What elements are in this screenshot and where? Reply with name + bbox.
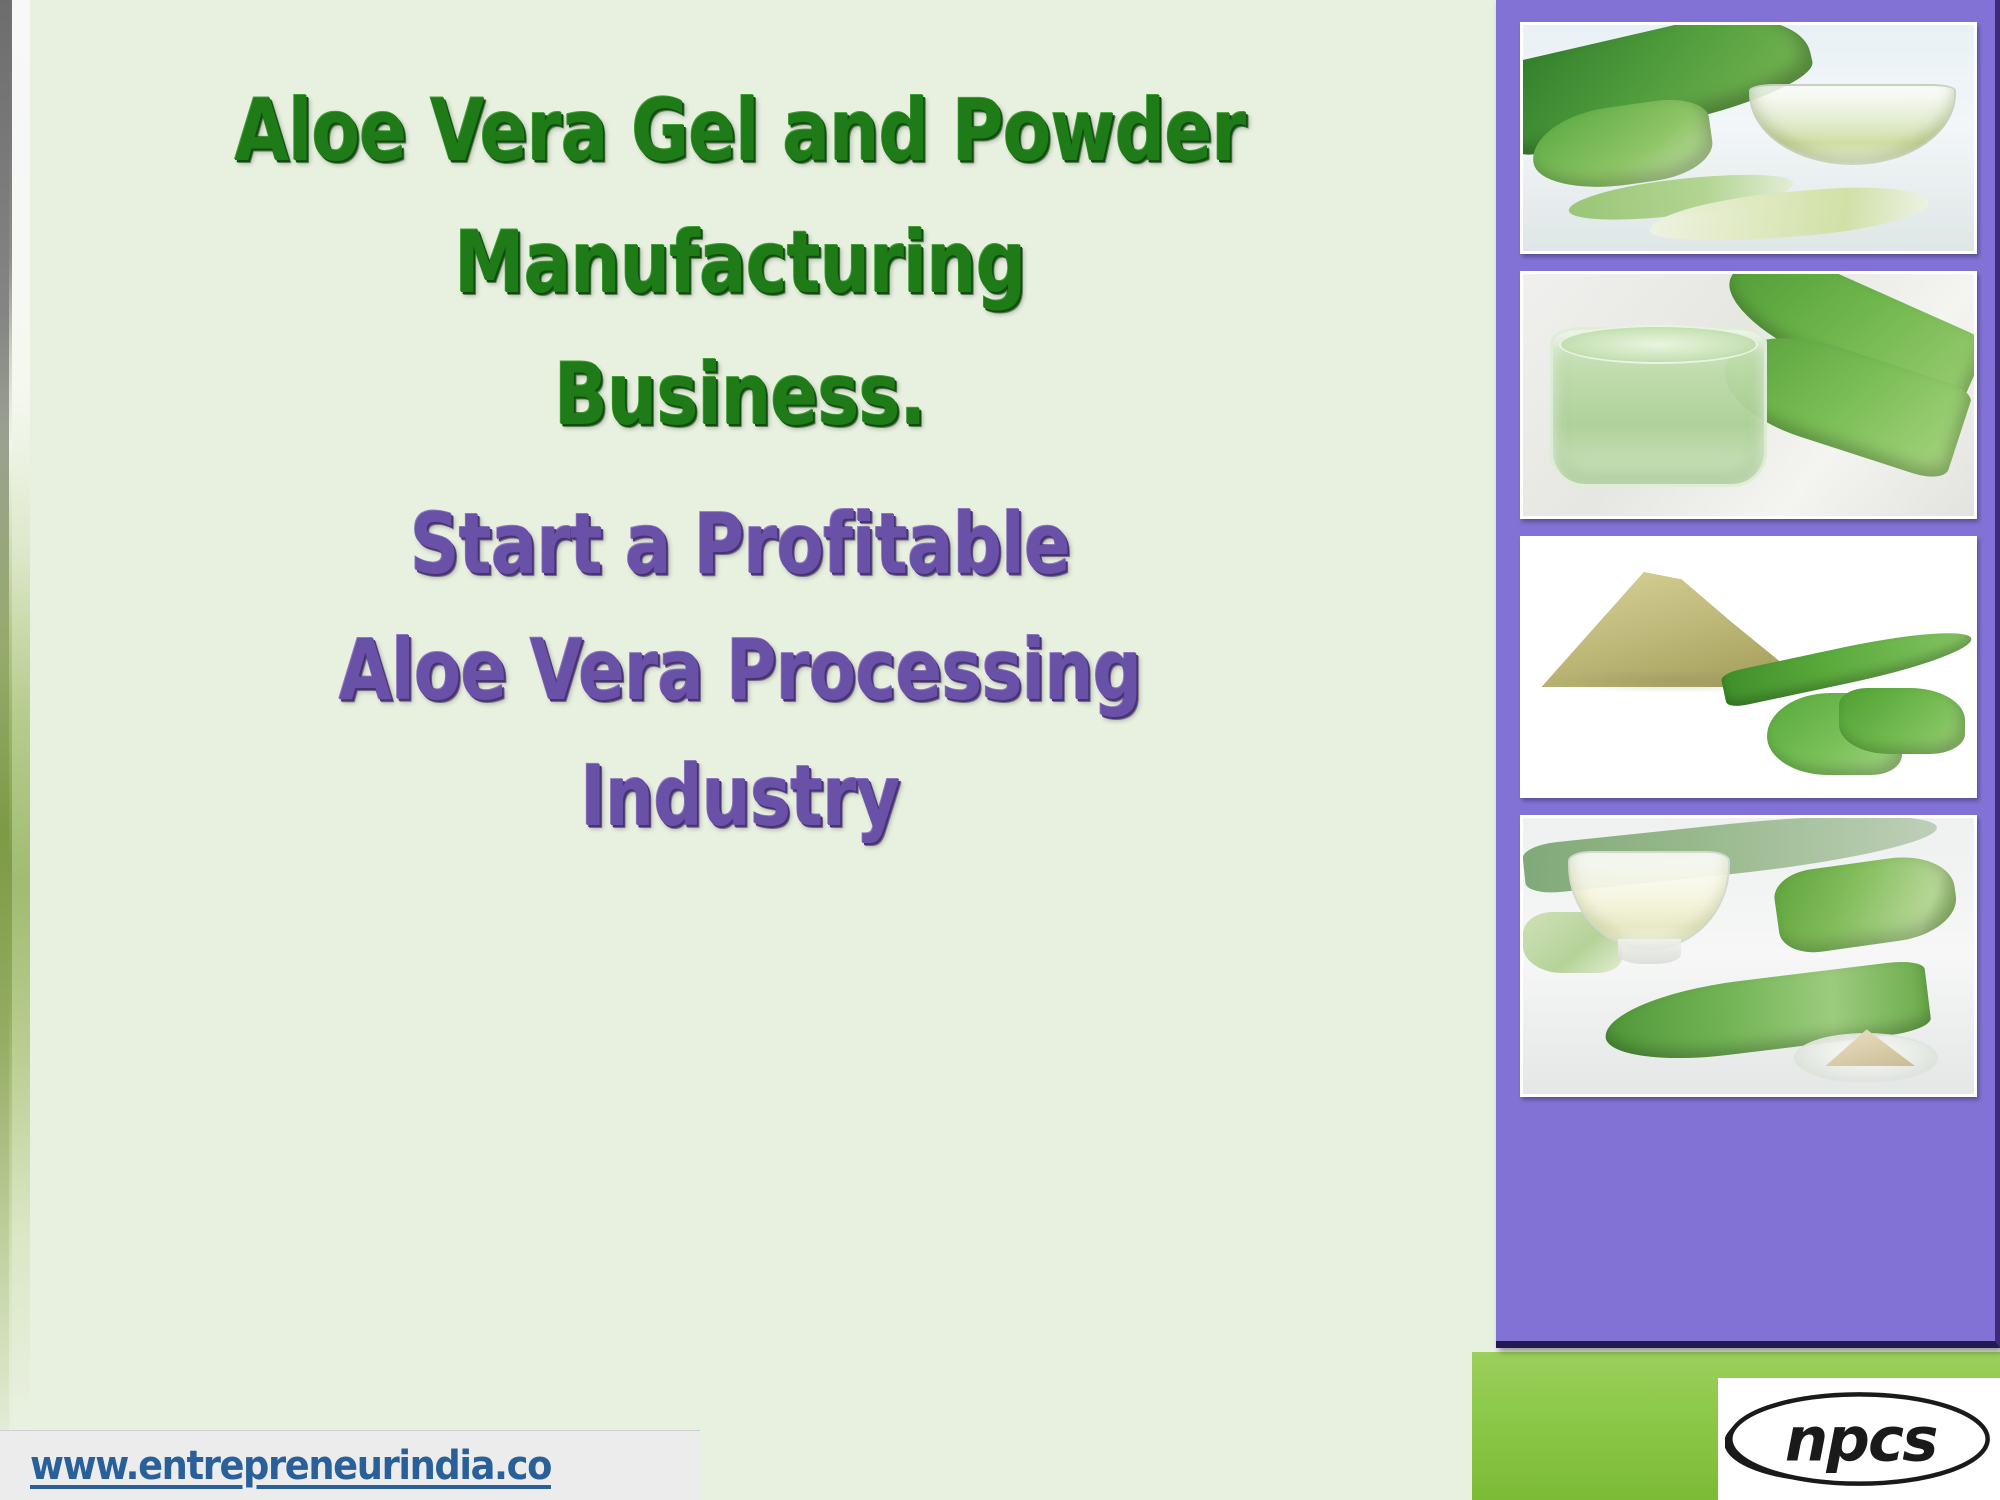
title-line-1: Aloe Vera Gel and Powder xyxy=(158,88,1322,174)
gallery-image-4 xyxy=(1520,815,1977,1097)
gallery-image-3 xyxy=(1520,536,1977,798)
left-decorative-strip xyxy=(0,0,30,1432)
left-strip-highlight xyxy=(12,0,30,1432)
slide-title-block: Aloe Vera Gel and Powder Manufacturing B… xyxy=(30,0,1450,1390)
gallery-image-1 xyxy=(1520,22,1977,254)
subtitle-line-1: Start a Profitable xyxy=(158,502,1322,586)
left-strip-edge xyxy=(0,0,9,1432)
svg-text:npcs: npcs xyxy=(1785,1405,1937,1475)
title-line-3: Business. xyxy=(158,352,1322,438)
footer-url-bar: www.entrepreneurindia.co xyxy=(0,1430,700,1500)
gallery-image-2 xyxy=(1520,271,1977,519)
presentation-slide: Aloe Vera Gel and Powder Manufacturing B… xyxy=(0,0,2000,1500)
subtitle-line-2: Aloe Vera Processing xyxy=(158,628,1322,712)
npcs-logo: npcs xyxy=(1718,1378,2000,1500)
image-gallery-column xyxy=(1496,0,2000,1348)
title-line-2: Manufacturing xyxy=(158,220,1322,306)
website-link[interactable]: www.entrepreneurindia.co xyxy=(30,1443,551,1489)
subtitle-line-3: Industry xyxy=(158,754,1322,838)
